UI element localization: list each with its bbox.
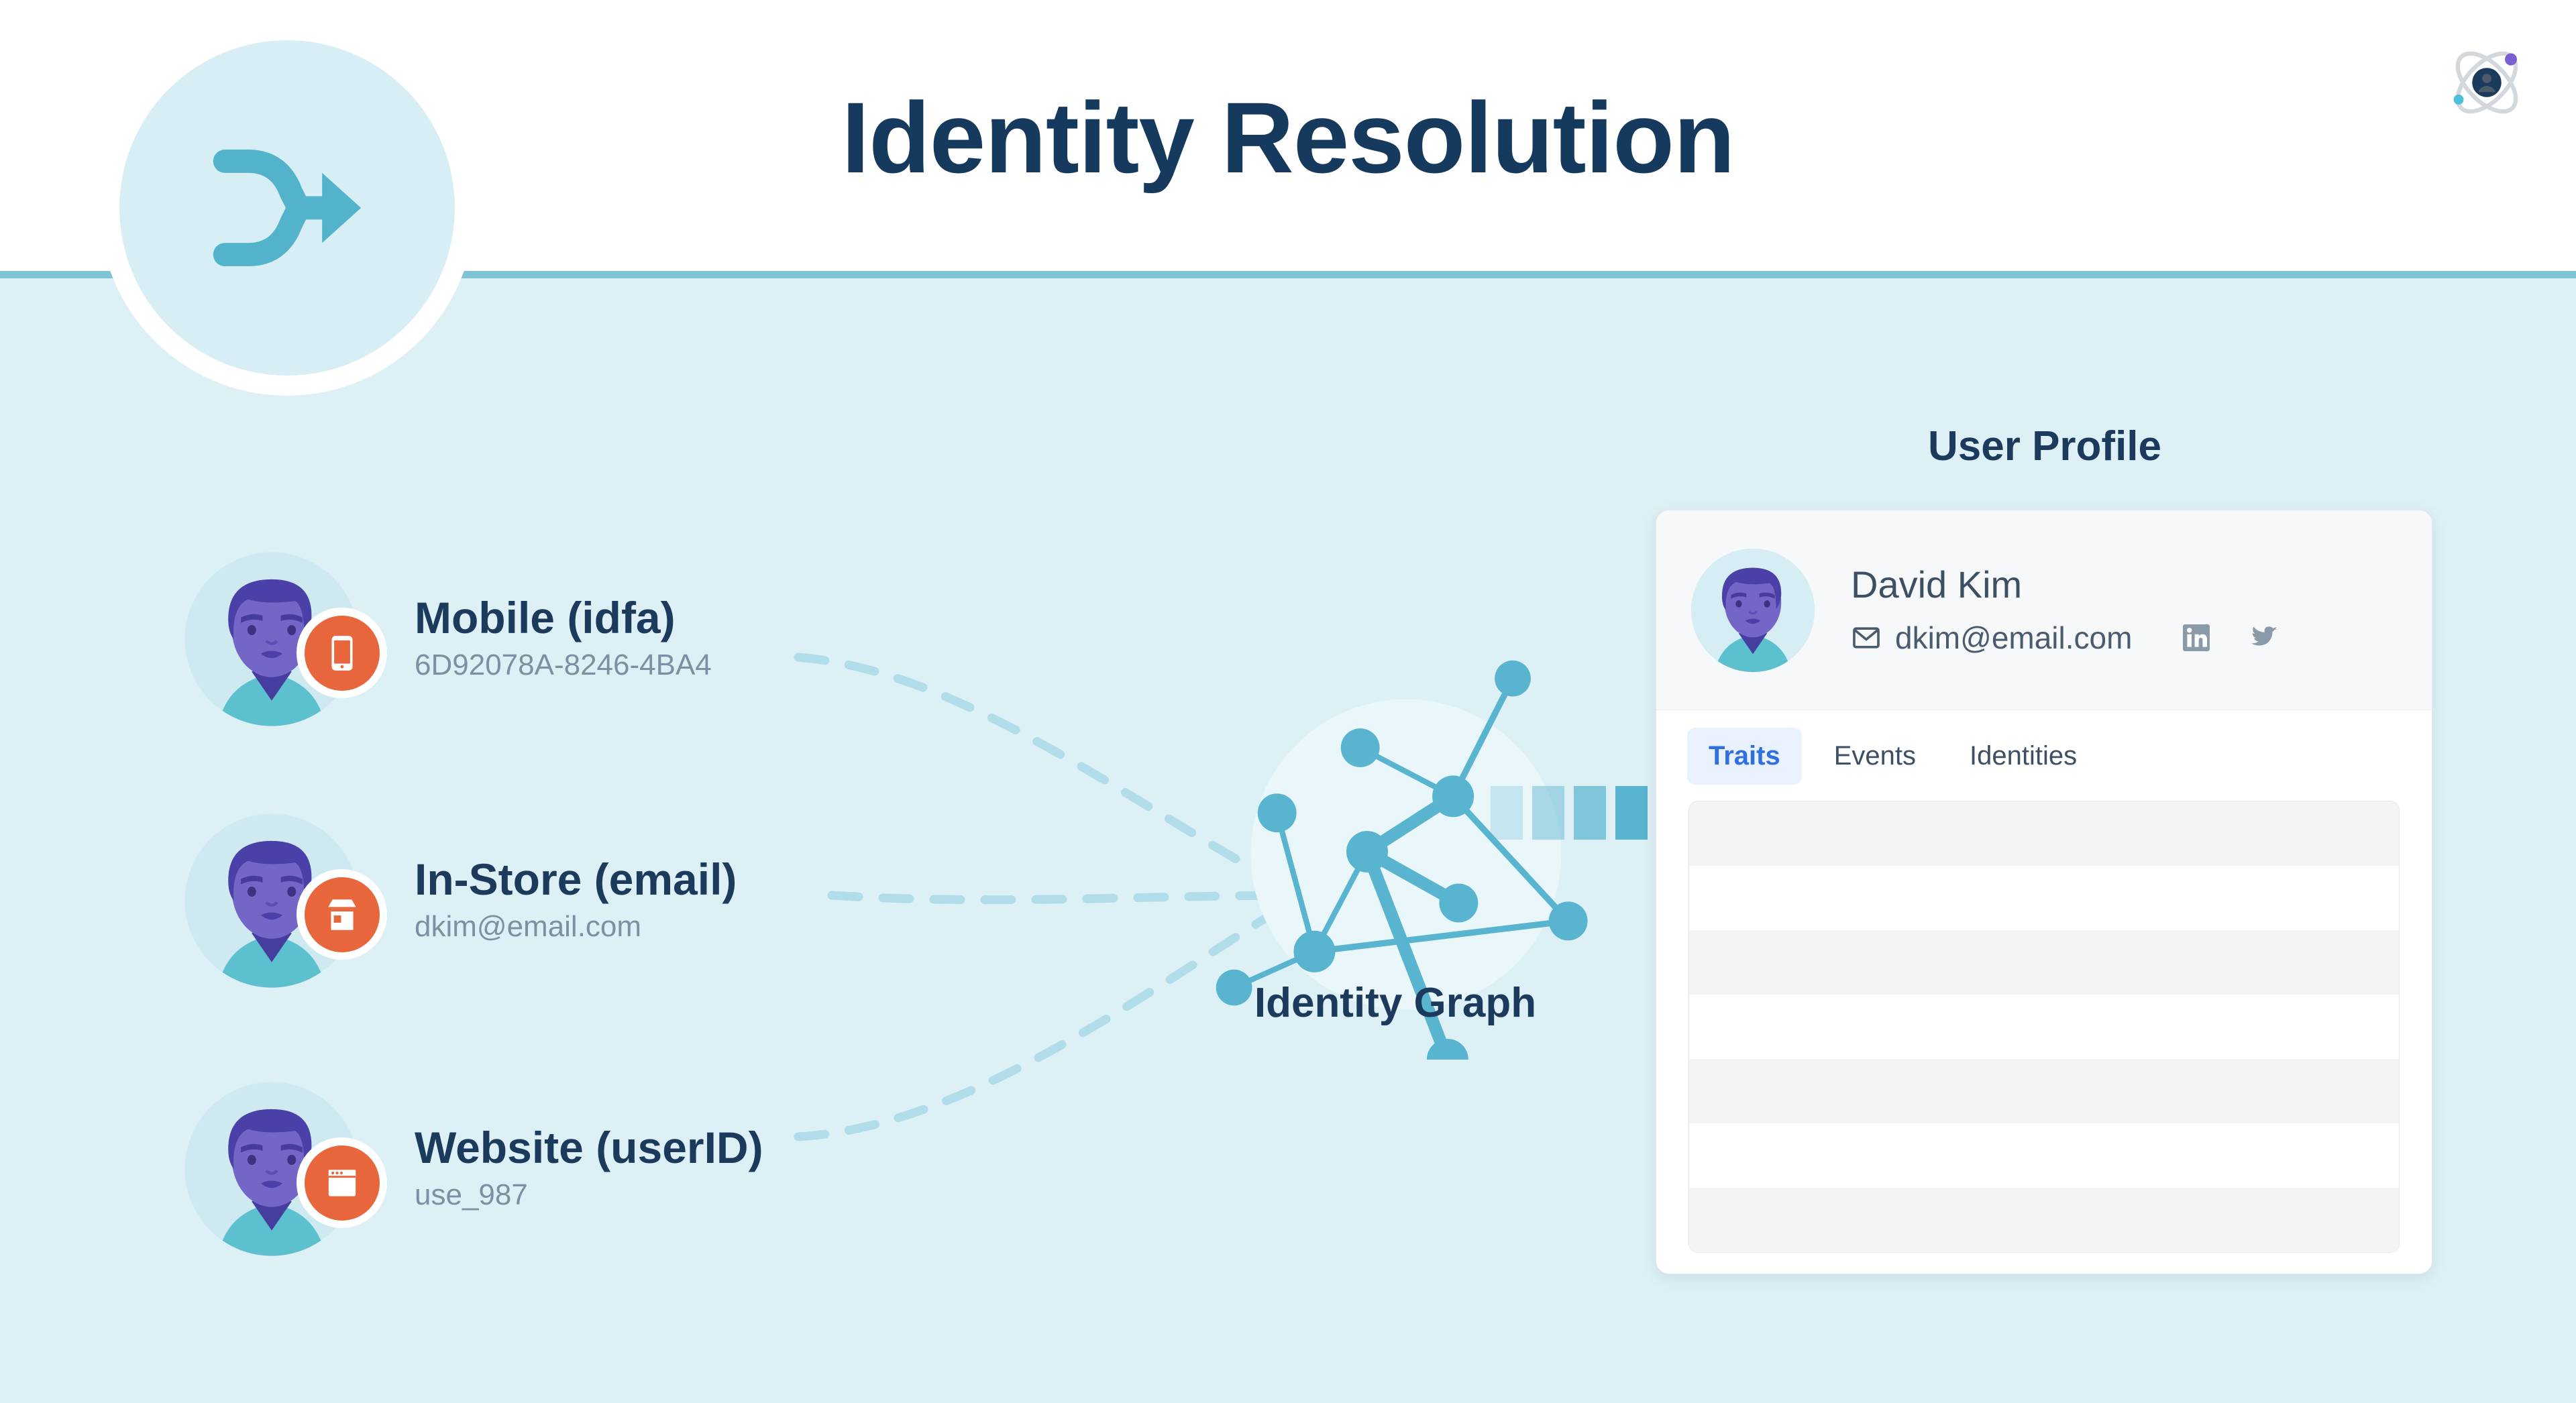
transition-bar bbox=[1491, 786, 1523, 840]
table-row bbox=[1689, 1188, 2399, 1252]
tab-identities[interactable]: Identities bbox=[1948, 728, 2098, 785]
transition-bar bbox=[1532, 786, 1564, 840]
channel-text: Mobile (idfa) 6D92078A-8246-4BA4 bbox=[415, 594, 712, 684]
channel-row-mobile[interactable]: Mobile (idfa) 6D92078A-8246-4BA4 bbox=[181, 549, 712, 730]
profile-card-header: David Kim dkim@email.com bbox=[1656, 510, 2432, 710]
user-profile-heading: User Profile bbox=[1656, 423, 2434, 470]
avatar bbox=[1688, 546, 1817, 675]
table-row bbox=[1689, 995, 2399, 1059]
channel-title: Website (userID) bbox=[415, 1124, 763, 1172]
channel-badge bbox=[297, 1137, 387, 1228]
channel-row-website[interactable]: Website (userID) use_987 bbox=[181, 1078, 763, 1259]
page-title: Identity Resolution bbox=[0, 87, 2576, 188]
header-badge-ring bbox=[99, 20, 475, 396]
profile-email: dkim@email.com bbox=[1895, 620, 2132, 656]
channel-value: dkim@email.com bbox=[415, 907, 737, 946]
envelope-icon bbox=[1851, 622, 1882, 653]
transition-bars bbox=[1491, 786, 1648, 840]
profile-identity-block: David Kim dkim@email.com bbox=[1851, 564, 2279, 657]
user-profile-card: David Kim dkim@email.com bbox=[1656, 510, 2432, 1274]
channel-text: Website (userID) use_987 bbox=[415, 1124, 763, 1214]
avatar bbox=[181, 1078, 362, 1259]
channel-badge bbox=[297, 608, 387, 698]
channel-title: In-Store (email) bbox=[415, 856, 737, 903]
channel-value: 6D92078A-8246-4BA4 bbox=[415, 646, 712, 684]
storefront-icon bbox=[321, 894, 363, 936]
identity-graph-label: Identity Graph bbox=[1140, 979, 1650, 1027]
avatar bbox=[181, 810, 362, 991]
profile-tabs: Traits Events Identities bbox=[1656, 710, 2432, 801]
table-row bbox=[1689, 930, 2399, 995]
traits-table bbox=[1688, 801, 2400, 1253]
table-row bbox=[1689, 1059, 2399, 1123]
profile-contact-row: dkim@email.com bbox=[1851, 620, 2279, 656]
tab-traits[interactable]: Traits bbox=[1687, 728, 1802, 785]
atom-identity-logo-icon bbox=[2436, 32, 2537, 133]
linkedin-icon[interactable] bbox=[2180, 622, 2212, 654]
channel-text: In-Store (email) dkim@email.com bbox=[415, 856, 737, 946]
tab-events[interactable]: Events bbox=[1813, 728, 1937, 785]
mobile-phone-icon bbox=[321, 632, 363, 674]
twitter-icon[interactable] bbox=[2247, 622, 2279, 654]
table-row bbox=[1689, 866, 2399, 930]
table-row bbox=[1689, 801, 2399, 866]
channel-value: use_987 bbox=[415, 1176, 763, 1214]
transition-bar bbox=[1615, 786, 1648, 840]
avatar bbox=[181, 549, 362, 730]
channel-row-instore[interactable]: In-Store (email) dkim@email.com bbox=[181, 810, 737, 991]
table-row bbox=[1689, 1123, 2399, 1188]
transition-bar bbox=[1574, 786, 1606, 840]
slide-canvas: Identity Resolution bbox=[0, 0, 2576, 1403]
browser-window-icon bbox=[321, 1162, 363, 1204]
profile-social-links bbox=[2180, 622, 2279, 654]
channel-badge bbox=[297, 869, 387, 960]
channel-title: Mobile (idfa) bbox=[415, 594, 712, 642]
profile-name: David Kim bbox=[1851, 564, 2279, 606]
